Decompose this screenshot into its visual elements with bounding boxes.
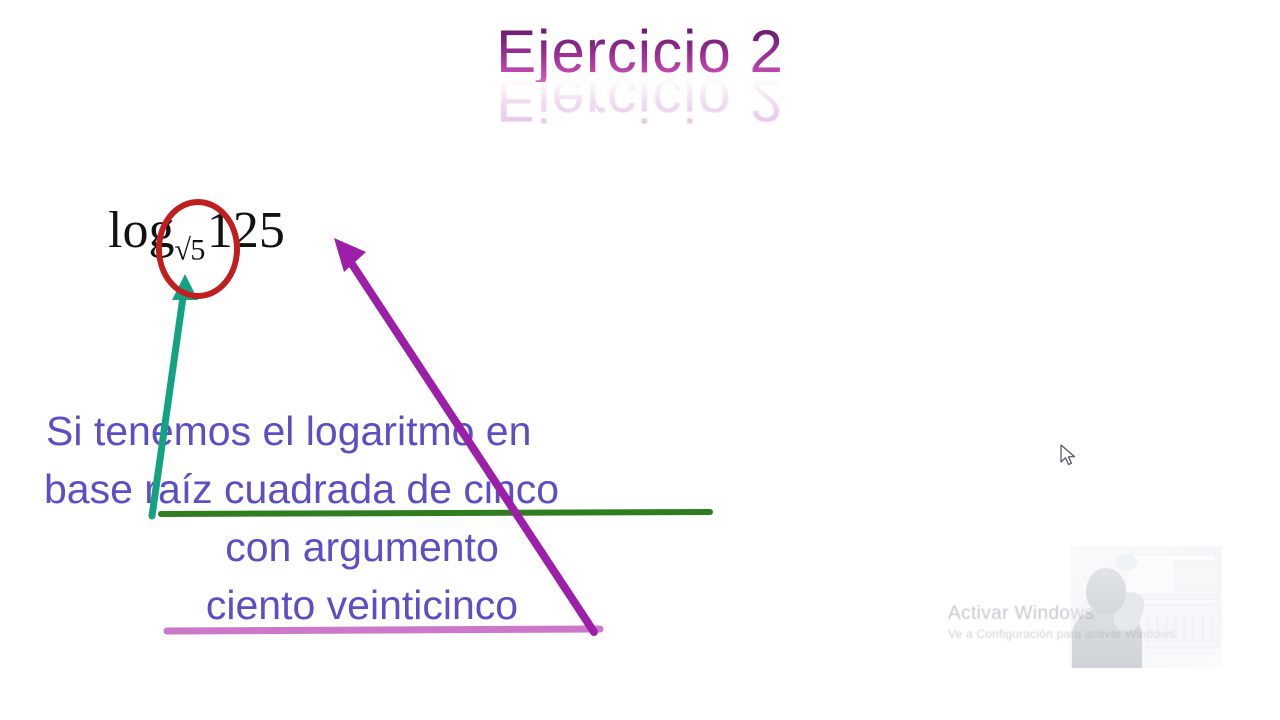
slide-title-block: Ejercicio 2 bbox=[0, 22, 1280, 82]
explanation-text: Si tenemos el logaritmo en base raíz cua… bbox=[0, 402, 740, 634]
log-base-label: √5 bbox=[174, 234, 204, 267]
explanation-line-3: con argumento bbox=[0, 518, 740, 576]
presenter-video-overlay bbox=[1070, 546, 1222, 668]
webcam-logo-ring bbox=[1116, 554, 1138, 570]
webcam-person-head bbox=[1086, 568, 1126, 614]
explanation-line-1: Si tenemos el logaritmo en bbox=[0, 402, 740, 460]
log-function-label: log bbox=[108, 202, 174, 259]
slide-canvas: Ejercicio 2 Ejercicio 2 log√5125 Si tene… bbox=[0, 0, 1280, 720]
webcam-chart-bars bbox=[1138, 616, 1212, 642]
webcam-panel-divider bbox=[1132, 594, 1218, 600]
explanation-line-4: ciento veinticinco bbox=[0, 576, 740, 634]
slide-title-reflection: Ejercicio 2 bbox=[0, 70, 1280, 130]
math-expression: log√5125 bbox=[108, 205, 285, 266]
mouse-pointer-icon bbox=[1060, 444, 1078, 468]
page-title: Ejercicio 2 bbox=[496, 22, 784, 82]
log-argument-label: 125 bbox=[207, 202, 285, 259]
slide-title-reflection-text: Ejercicio 2 bbox=[496, 70, 784, 130]
explanation-line-2: base raíz cuadrada de cinco bbox=[0, 460, 740, 518]
webcam-panel-top bbox=[1174, 560, 1220, 592]
